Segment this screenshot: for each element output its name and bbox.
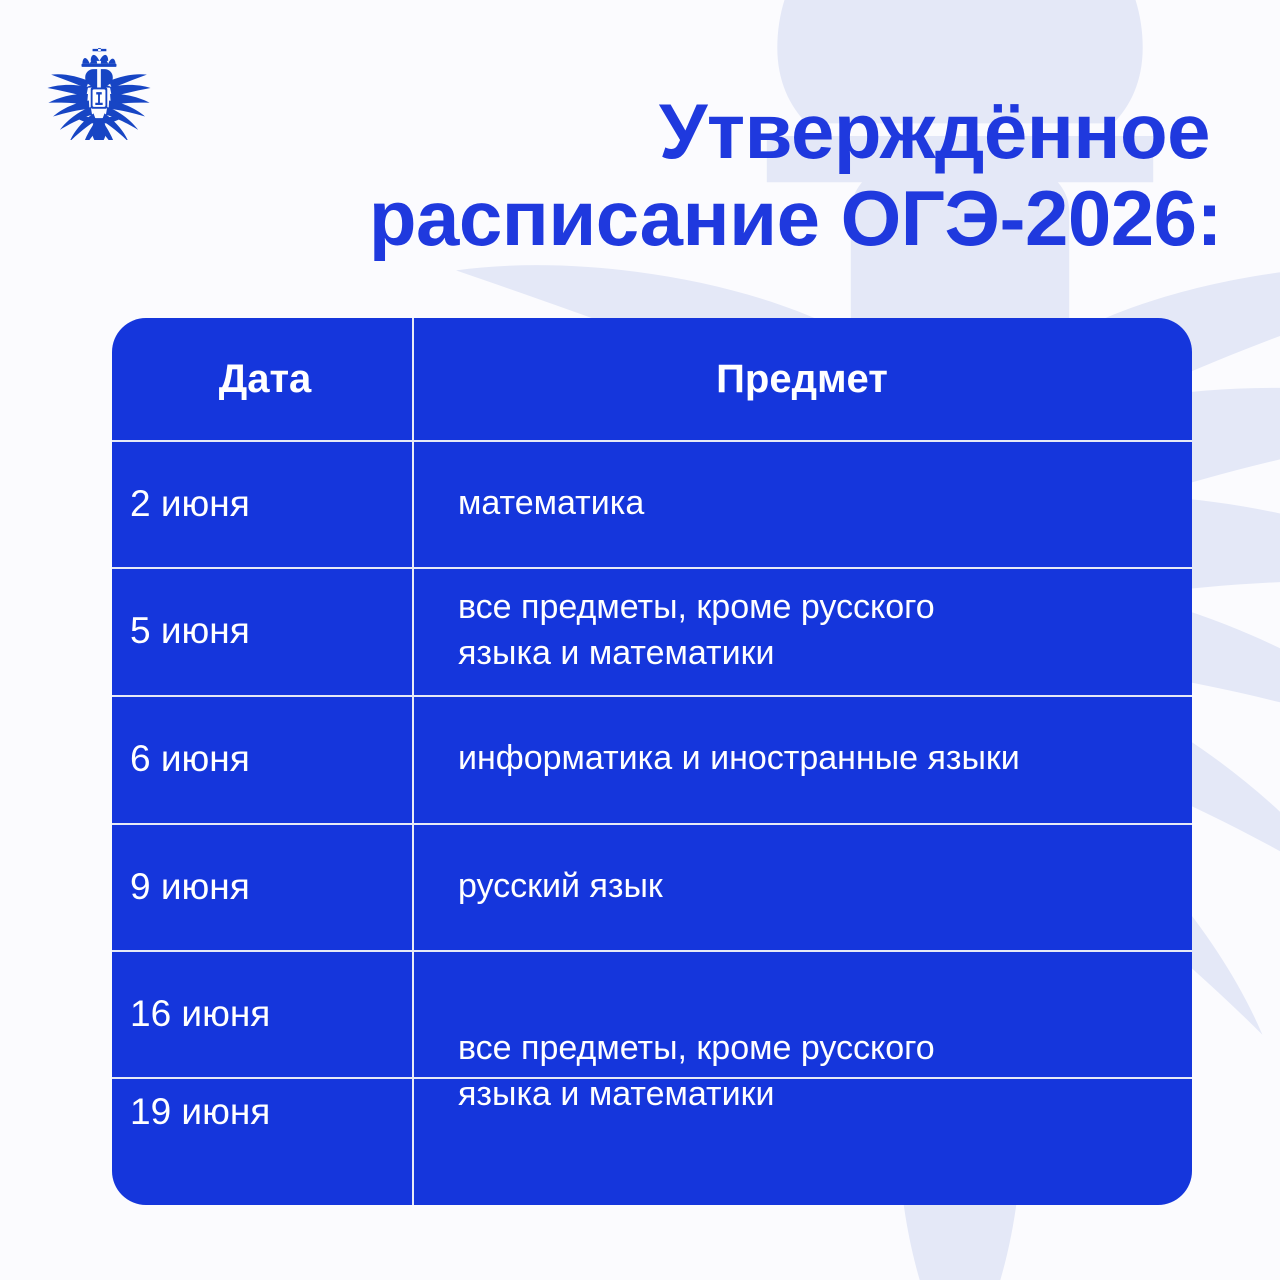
table-row: 9 июня	[112, 823, 442, 950]
cell-date: 16 июня	[130, 993, 270, 1035]
schedule-table-card: Дата Предмет 2 июня 5 июня 6 июня	[112, 318, 1192, 1205]
cell-subject-text: информатика и иностранные языки	[458, 736, 1020, 782]
table-row: 6 июня	[112, 695, 442, 823]
cell-subject: все предметы, кроме русского языка и мат…	[412, 567, 1192, 695]
cell-date: 19 июня	[130, 1091, 270, 1133]
table-header-row: Дата Предмет	[112, 318, 1192, 440]
cell-date: 6 июня	[130, 738, 250, 780]
cell-date: 9 июня	[130, 866, 250, 908]
cell-subject: математика	[412, 440, 1192, 567]
cell-date: 5 июня	[130, 610, 250, 652]
table-row: 16 июня	[112, 950, 442, 1077]
cell-subject-text-line2: языка и математики	[458, 631, 774, 677]
cell-subject-text-line1: все предметы, кроме русского	[458, 585, 935, 631]
cell-date: 2 июня	[130, 483, 250, 525]
title-line-1: Утверждённое	[112, 88, 1222, 175]
page-title: Утверждённое расписание ОГЭ-2026:	[112, 88, 1222, 261]
cell-subject-text-line1: все предметы, кроме русского	[458, 1026, 935, 1072]
column-header-subject: Предмет	[412, 318, 1192, 440]
cell-subject: русский язык	[412, 823, 1192, 950]
cell-subject: информатика и иностранные языки	[412, 695, 1192, 823]
title-line-2: расписание ОГЭ-2026:	[112, 175, 1222, 262]
table-row: 5 июня	[112, 567, 442, 695]
schedule-grid: Дата Предмет 2 июня 5 июня 6 июня	[112, 318, 1192, 1205]
rosobrnadzor-double-headed-eagle-emblem	[38, 48, 160, 140]
cell-subject-text: русский язык	[458, 864, 663, 910]
cell-subject-text: математика	[458, 481, 644, 527]
column-header-date: Дата	[112, 318, 412, 440]
poster-root: Утверждённое расписание ОГЭ-2026: Дата П…	[0, 0, 1280, 1280]
table-row: 2 июня	[112, 440, 442, 567]
table-row: 19 июня	[112, 1062, 442, 1162]
